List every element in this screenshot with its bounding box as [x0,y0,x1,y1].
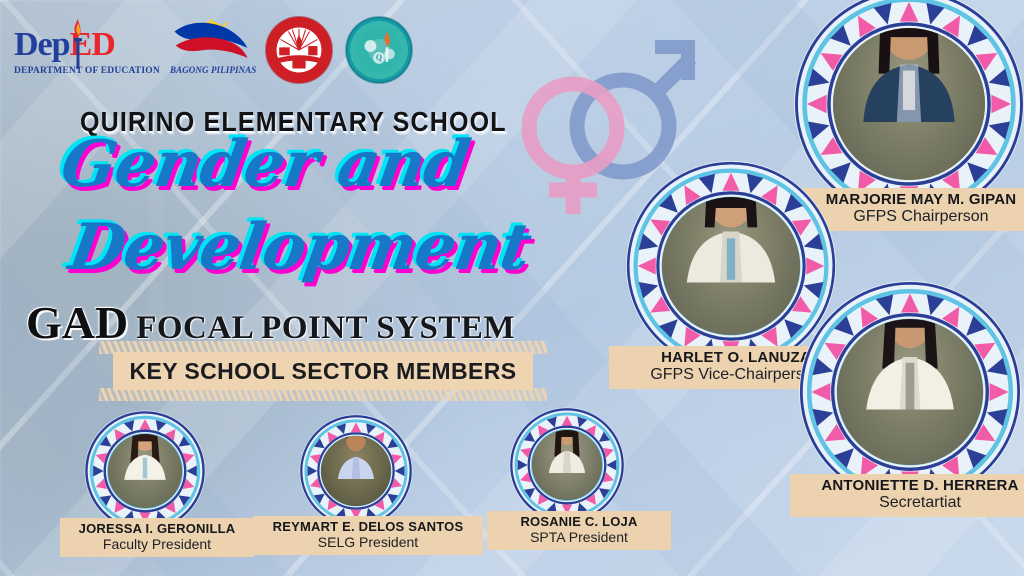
member-name: JORESSA I. GERONILLA [72,521,242,536]
sorsogon-city-division-seal: 2001 [266,17,332,83]
photo-frame [798,280,1022,504]
member-name-plate: ANTONIETTE D. HERRERA Secretartiat [790,474,1024,517]
portrait-figure [837,319,983,410]
key-members-banner-text: KEY SCHOOL SECTOR MEMBERS [129,358,516,385]
gad-subtitle-line: GAD FOCAL POINT SYSTEM [26,296,515,349]
member-name-plate: ROSANIE C. LOJA SPTA President [487,511,671,550]
title-line-gender-and: Gender and [57,134,534,197]
member-photo [662,197,800,335]
member-role: Secretartiat [802,494,1024,512]
bagong-pilipinas-logo: BAGONG PILIPINAS [170,15,252,85]
member-name: REYMART E. DELOS SANTOS [265,519,471,534]
sorsogon-seal-icon: 2001 [266,17,332,83]
photo-frame [299,414,413,528]
member-role: SELG President [265,534,471,550]
portrait-figure [321,436,391,479]
member-name: ANTONIETTE D. HERRERA [802,477,1024,494]
gad-abbreviation: GAD [26,296,128,349]
seal-year-text: 2001 [293,74,305,80]
member-photo [837,319,983,465]
bagong-pilipinas-caption: BAGONG PILIPINAS [170,65,252,75]
deped-logo: DepED DEPARTMENT OF EDUCATION [14,14,156,86]
member-card-joressa-geronilla[interactable]: JORESSA I. GERONILLA Faculty President [84,410,206,532]
member-photo [108,434,182,508]
portrait-figure [108,434,182,480]
gad-focal-point-system-text: FOCAL POINT SYSTEM [136,310,515,347]
deped-wordmark: DepED [14,28,156,62]
title-line-development: Development [65,217,534,280]
logo-row: DepED DEPARTMENT OF EDUCATION BAGONG PIL… [14,14,412,86]
photo-frame [509,407,625,523]
quirino-seal-icon: Q [346,17,412,83]
venus-symbol-icon [529,84,617,214]
member-name-plate: REYMART E. DELOS SANTOS SELG President [253,516,483,555]
deped-dep-text: Dep [14,26,70,63]
member-name: ROSANIE C. LOJA [499,514,659,529]
gad-poster: DepED DEPARTMENT OF EDUCATION BAGONG PIL… [0,0,1024,576]
quirino-elementary-school-seal: Q [346,17,412,83]
deped-subtitle: DEPARTMENT OF EDUCATION [14,66,156,76]
portrait-figure [532,430,602,473]
torch-icon [71,16,85,72]
member-name-plate: JORESSA I. GERONILLA Faculty President [60,518,254,557]
member-photo [833,28,985,180]
svg-text:Q: Q [376,53,382,62]
mars-symbol-icon [577,40,695,172]
member-card-rosanie-loja[interactable]: ROSANIE C. LOJA SPTA President [509,407,625,523]
portrait-figure [833,28,985,122]
main-title-script: Gender and Development [62,134,529,279]
photo-frame [84,410,206,532]
philippine-flag-swoosh-icon [172,19,250,63]
member-role: SPTA President [499,529,659,545]
key-school-sector-members-banner: KEY SCHOOL SECTOR MEMBERS [113,352,533,390]
portrait-figure [662,197,800,283]
member-role: Faculty President [72,536,242,552]
member-photo [532,430,602,500]
member-card-antoniette-herrera[interactable]: ANTONIETTE D. HERRERA Secretartiat [798,280,1022,504]
member-card-reymart-delos-santos[interactable]: REYMART E. DELOS SANTOS SELG President [299,414,413,528]
member-photo [321,436,391,506]
